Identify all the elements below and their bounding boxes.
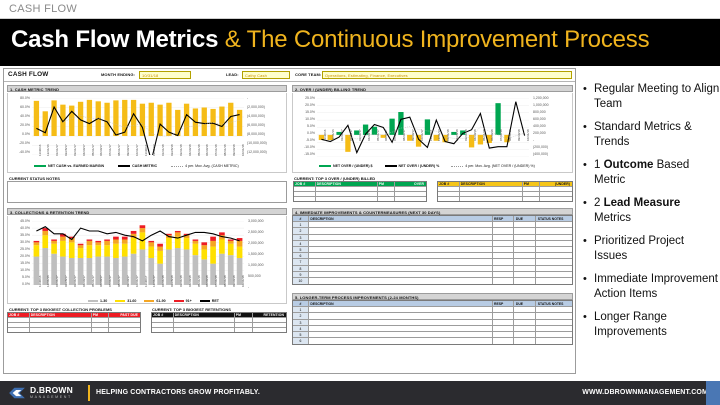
col-over: OVER xyxy=(395,182,426,186)
chart3-ytick: 25.0% xyxy=(8,247,30,251)
x-tick-label: 06/30/17 xyxy=(384,129,388,141)
row-cell[interactable] xyxy=(309,259,493,264)
row-cell[interactable] xyxy=(536,272,572,277)
row-number: 5 xyxy=(293,247,309,252)
x-tick-label: 09/30/18 xyxy=(232,275,236,287)
row-cell[interactable] xyxy=(514,266,536,271)
legend-label: 31-60 xyxy=(127,299,136,303)
chart2-ytick: -5.0% xyxy=(293,138,315,142)
row-cell[interactable] xyxy=(514,222,536,227)
x-tick-label: 06/30/18 xyxy=(490,129,494,141)
chart1-y2tick: (8,000,000) xyxy=(247,132,265,136)
chart-cash-metric-trend: 80.0% 60.0% 40.0% 20.0% 0.0% -20.0% -40.… xyxy=(7,93,287,173)
row-cell[interactable] xyxy=(514,278,536,284)
row-cell[interactable] xyxy=(514,307,536,312)
chart3-ytick: 5.0% xyxy=(8,275,30,279)
row-number: 1 xyxy=(293,222,309,227)
x-tick-label: 03/31/17 xyxy=(358,129,362,141)
column-header: DUE xyxy=(514,301,536,306)
bullet-item: •Standard Metrics & Trends xyxy=(583,120,720,149)
page-title-accent: & The Continuous Improvement Process xyxy=(225,26,650,53)
x-tick-label: 08/31/17 xyxy=(117,144,121,156)
breadcrumb: CASH FLOW xyxy=(9,3,77,15)
chart3-ytick: 10.0% xyxy=(8,268,30,272)
col-job: JOB # xyxy=(152,313,174,317)
legend-swatch-91plus xyxy=(174,300,184,303)
column-header: STATUS NOTES xyxy=(536,301,572,306)
col-pm: PM xyxy=(235,313,253,317)
legend-swatch-1-30 xyxy=(88,300,98,303)
footer-divider xyxy=(88,385,90,401)
row-cell[interactable] xyxy=(536,247,572,252)
row-cell[interactable] xyxy=(493,235,515,240)
chart3-y2tick: 3,000,000 xyxy=(248,219,264,223)
table-over-billed[interactable]: JOB # DESCRIPTION PM OVER xyxy=(293,181,427,202)
chart3-ytick: 40.0% xyxy=(8,226,30,230)
core-team-field[interactable]: Operations, Estimating, Finance, Executi… xyxy=(322,71,572,79)
chart1-ytick: 80.0% xyxy=(8,96,30,100)
row-cell[interactable] xyxy=(309,228,493,233)
legend-label: 4 per. Mov. Avg. (CASH METRIC) xyxy=(185,164,239,168)
row-cell[interactable] xyxy=(514,313,536,318)
x-tick-label: 02/28/18 xyxy=(455,129,459,141)
lead-label: LEAD: xyxy=(226,72,239,77)
row-cell[interactable] xyxy=(536,278,572,284)
row-number: 5 xyxy=(293,332,309,337)
x-tick-label: 01/31/18 xyxy=(161,144,165,156)
row-cell[interactable] xyxy=(536,253,572,258)
section-3-label: 3. COLLECTIONS & RETENTION TREND xyxy=(10,210,89,215)
x-tick-label: 08/31/18 xyxy=(223,144,227,156)
row-cell[interactable] xyxy=(493,313,515,318)
row-number: 6 xyxy=(293,253,309,258)
column-header: # xyxy=(293,216,309,221)
chart1-ytick: -20.0% xyxy=(8,141,30,145)
x-tick-label: 03/31/17 xyxy=(73,144,77,156)
row-cell[interactable] xyxy=(493,272,515,277)
row-cell[interactable] xyxy=(514,259,536,264)
status-notes-box[interactable] xyxy=(7,181,287,203)
table-row[interactable]: 10 xyxy=(293,278,572,284)
x-tick-label: 12/31/17 xyxy=(437,129,441,141)
column-header: DESCRIPTION xyxy=(309,216,493,221)
col-pm: PM xyxy=(523,182,541,186)
bullet-text: Immediate Improvement Action Items xyxy=(594,272,720,301)
month-ending-field[interactable]: 10/31/18 xyxy=(139,71,191,79)
footer-accent-block xyxy=(706,381,720,405)
bullet-item: •Regular Meeting to Align Team xyxy=(583,82,720,111)
bullet-dot-icon: • xyxy=(583,120,594,149)
col-pm: PM xyxy=(92,313,110,317)
row-cell[interactable] xyxy=(514,235,536,240)
column-header: # xyxy=(293,301,309,306)
x-tick-label: 01/31/18 xyxy=(161,275,165,287)
x-tick-label: 06/30/17 xyxy=(99,144,103,156)
x-tick-label: 04/30/17 xyxy=(82,275,86,287)
x-tick-label: 11/30/16 xyxy=(38,145,42,156)
row-cell[interactable] xyxy=(309,278,493,284)
section-1-label: 1. CASH METRIC TREND xyxy=(10,87,59,92)
col-job: JOB # xyxy=(294,182,316,186)
col-job: JOB # xyxy=(8,313,30,317)
row-cell[interactable] xyxy=(493,259,515,264)
row-cell[interactable] xyxy=(536,241,572,246)
row-cell[interactable] xyxy=(493,266,515,271)
bullet-text: Standard Metrics & Trends xyxy=(594,120,720,149)
core-team-label: CORE TEAM: xyxy=(295,72,321,77)
row-cell[interactable] xyxy=(309,235,493,240)
row-cell[interactable] xyxy=(536,266,572,271)
footer-url[interactable]: WWW.DBROWNMANAGEMENT.COM xyxy=(582,389,708,396)
row-cell[interactable] xyxy=(514,272,536,277)
legend-label: RET xyxy=(212,299,219,303)
legend-swatch-mov-avg xyxy=(451,166,463,167)
row-number: 3 xyxy=(293,235,309,240)
slide: CASH FLOW Cash Flow Metrics & The Contin… xyxy=(0,0,720,405)
x-tick-label: 05/31/18 xyxy=(197,275,201,287)
row-cell[interactable] xyxy=(536,332,572,337)
col-retention: RETENTION xyxy=(253,313,287,317)
breadcrumb-bar: CASH FLOW xyxy=(0,0,720,19)
chart1-y2tick: (12,000,000) xyxy=(247,150,267,154)
chart1-legend: NET CASH vs. EARNED MARGIN CASH METRIC 4… xyxy=(34,164,239,168)
row-cell[interactable] xyxy=(493,222,515,227)
chart2-ytick: -10.0% xyxy=(293,145,315,149)
x-tick-label: 01/31/18 xyxy=(446,129,450,141)
chart2-y2tick: (400,000) xyxy=(533,152,548,156)
chart2-ytick: 20.0% xyxy=(293,103,315,107)
dbrown-logo-icon xyxy=(8,386,26,400)
x-tick-label: 04/30/17 xyxy=(367,129,371,141)
row-cell[interactable] xyxy=(309,272,493,277)
row-cell[interactable] xyxy=(493,278,515,284)
legend-label: 61-90 xyxy=(156,299,165,303)
bullet-dot-icon: • xyxy=(583,196,594,225)
row-cell[interactable] xyxy=(536,313,572,318)
bullet-item: •Longer Range Improvements xyxy=(583,310,720,339)
chart2-ytick: 25.0% xyxy=(293,96,315,100)
row-number: 8 xyxy=(293,266,309,271)
row-number: 10 xyxy=(293,278,309,284)
row-cell[interactable] xyxy=(536,222,572,227)
chart3-ytick: 0.0% xyxy=(8,282,30,286)
bullet-text: 2 Lead Measure Metrics xyxy=(594,196,720,225)
row-cell[interactable] xyxy=(493,320,515,325)
row-cell[interactable] xyxy=(309,313,493,318)
legend-label: NET CASH vs. EARNED MARGIN xyxy=(48,164,104,168)
chart2-y2tick: - xyxy=(533,138,534,142)
x-tick-label: 03/31/18 xyxy=(179,144,183,156)
chart1-ytick: 40.0% xyxy=(8,114,30,118)
chart2-y2tick: 1,200,000 xyxy=(533,96,549,100)
legend-swatch-31-60 xyxy=(115,300,125,303)
row-number: 2 xyxy=(293,228,309,233)
col-under: (UNDER) xyxy=(540,182,572,186)
bullet-dot-icon: • xyxy=(583,272,594,301)
chart3-y2tick: 500,000 xyxy=(248,274,261,278)
x-tick-label: 08/31/17 xyxy=(402,129,406,141)
row-cell[interactable] xyxy=(514,253,536,258)
x-tick-label: 02/28/17 xyxy=(64,275,68,287)
bullet-text: 1 Outcome Based Metric xyxy=(594,158,720,187)
legend-swatch-net-over-pct xyxy=(385,165,397,168)
row-cell[interactable] xyxy=(536,338,572,344)
chart1-x-axis: 11/30/1612/31/1601/31/1702/28/1703/31/17… xyxy=(32,155,244,171)
section-2-header: 2. OVER / (UNDER) BILLING TREND xyxy=(292,85,573,92)
chart1-y2tick: (2,000,000) xyxy=(247,105,265,109)
x-tick-label: 07/31/18 xyxy=(214,275,218,287)
col-description: DESCRIPTION xyxy=(316,182,378,186)
x-tick-label: 02/28/18 xyxy=(170,144,174,156)
x-tick-label: 04/30/18 xyxy=(188,275,192,287)
column-header: DUE xyxy=(514,216,536,221)
row-cell[interactable] xyxy=(514,320,536,325)
page-title: Cash Flow Metrics & The Continuous Impro… xyxy=(11,26,649,54)
bullet-dot-icon: • xyxy=(583,82,594,111)
row-cell[interactable] xyxy=(309,241,493,246)
col-description: DESCRIPTION xyxy=(460,182,523,186)
footer-tagline: HELPING CONTRACTORS GROW PROFITABLY. xyxy=(96,389,260,396)
row-cell[interactable] xyxy=(309,320,493,325)
row-cell[interactable] xyxy=(493,247,515,252)
x-tick-label: 09/30/18 xyxy=(517,129,521,141)
row-cell[interactable] xyxy=(309,266,493,271)
row-cell[interactable] xyxy=(309,247,493,252)
table-retentions[interactable]: JOB # DESCRIPTION PM RETENTION xyxy=(151,312,287,333)
chart2-y2tick: (200,000) xyxy=(533,145,548,149)
row-cell[interactable] xyxy=(309,222,493,227)
x-tick-label: 03/31/18 xyxy=(464,129,468,141)
x-tick-label: 01/31/17 xyxy=(55,144,59,156)
x-tick-label: 06/30/18 xyxy=(205,275,209,287)
chart3-y2tick: 1,000,000 xyxy=(248,263,264,267)
chart2-x-axis: 11/30/1612/31/1601/31/1702/28/1703/31/17… xyxy=(317,140,529,156)
legend-label: NET OVER / (UNDER) % xyxy=(399,164,440,168)
row-cell[interactable] xyxy=(309,307,493,312)
x-tick-label: 09/30/17 xyxy=(411,129,415,141)
x-tick-label: 11/30/17 xyxy=(429,130,433,141)
bullet-dot-icon: • xyxy=(583,234,594,263)
bullet-dot-icon: • xyxy=(583,310,594,339)
row-cell[interactable] xyxy=(536,326,572,331)
row-cell[interactable] xyxy=(536,307,572,312)
row-number: 1 xyxy=(293,307,309,312)
row-cell[interactable] xyxy=(514,228,536,233)
chart2-y2tick: 200,000 xyxy=(533,131,546,135)
x-tick-label: 01/31/17 xyxy=(340,129,344,141)
x-tick-label: 05/31/18 xyxy=(482,129,486,141)
page-title-main: Cash Flow Metrics xyxy=(11,26,218,53)
chart2-ytick: 15.0% xyxy=(293,110,315,114)
x-tick-label: 08/31/18 xyxy=(223,275,227,287)
row-cell[interactable] xyxy=(493,228,515,233)
x-tick-label: 10/31/18 xyxy=(241,144,245,156)
legend-swatch-cash-metric xyxy=(118,165,130,168)
chart1-ytick: 60.0% xyxy=(8,105,30,109)
x-tick-label: 11/30/16 xyxy=(38,276,42,287)
x-tick-label: 04/30/18 xyxy=(188,144,192,156)
bullet-text: Prioritized Project Issues xyxy=(594,234,720,263)
x-tick-label: 02/28/17 xyxy=(64,144,68,156)
chart2-ytick: 10.0% xyxy=(293,117,315,121)
x-tick-label: 05/31/17 xyxy=(91,144,95,156)
x-tick-label: 12/31/17 xyxy=(152,144,156,156)
chart3-y2tick: 2,500,000 xyxy=(248,230,264,234)
row-cell[interactable] xyxy=(493,338,515,344)
row-cell[interactable] xyxy=(309,338,493,344)
footer-brand: D.BROWN MANAGEMENT xyxy=(30,386,73,400)
row-number: 2 xyxy=(293,313,309,318)
chart3-ytick: 15.0% xyxy=(8,261,30,265)
chart-collections-retention-trend: 45.0% 40.0% 35.0% 30.0% 25.0% 20.0% 15.0… xyxy=(7,216,287,304)
table-immediate-improvements[interactable]: #DESCRIPTIONRESPDUESTATUS NOTES123456789… xyxy=(292,215,573,285)
table-longterm-improvements[interactable]: #DESCRIPTIONRESPDUESTATUS NOTES123456 xyxy=(292,300,573,345)
legend-label: NET OVER / (UNDER) $ xyxy=(333,164,373,168)
section-4-header: 4. IMMEDIATE IMPROVEMENTS & COUNTERMEASU… xyxy=(292,208,573,215)
x-tick-label: 12/31/16 xyxy=(46,275,50,287)
chart1-y2tick: (6,000,000) xyxy=(247,123,265,127)
table-row[interactable] xyxy=(438,197,572,202)
row-cell[interactable] xyxy=(309,332,493,337)
row-cell[interactable] xyxy=(493,307,515,312)
cash-flow-worksheet: CASH FLOW MONTH ENDING: 10/31/18 LEAD: C… xyxy=(3,68,576,374)
chart3-y2tick: 2,000,000 xyxy=(248,241,264,245)
chart1-y2tick: (4,000,000) xyxy=(247,114,265,118)
x-tick-label: 10/31/17 xyxy=(135,144,139,156)
chart3-ytick: 45.0% xyxy=(8,219,30,223)
chart3-ytick: 20.0% xyxy=(8,254,30,258)
row-number: 4 xyxy=(293,241,309,246)
row-cell[interactable] xyxy=(514,332,536,337)
bullet-item: •Immediate Improvement Action Items xyxy=(583,272,720,301)
x-tick-label: 08/31/18 xyxy=(508,129,512,141)
x-tick-label: 07/31/17 xyxy=(108,275,112,287)
row-number: 7 xyxy=(293,259,309,264)
chart2-ytick: 5.0% xyxy=(293,124,315,128)
x-tick-label: 10/31/17 xyxy=(135,275,139,287)
row-cell[interactable] xyxy=(514,247,536,252)
x-tick-label: 12/31/16 xyxy=(331,129,335,141)
chart2-ytick: 0.0% xyxy=(293,131,315,135)
table-row[interactable] xyxy=(8,328,140,333)
lead-field[interactable]: Cathy Cash xyxy=(242,71,290,79)
x-tick-label: 11/30/16 xyxy=(323,130,327,141)
bullet-text: Longer Range Improvements xyxy=(594,310,720,339)
x-tick-label: 07/31/18 xyxy=(499,129,503,141)
column-header: RESP xyxy=(493,216,515,221)
table-collection-problems[interactable]: JOB # DESCRIPTION PM PAST DUE xyxy=(7,312,141,333)
bullet-item: •1 Outcome Based Metric xyxy=(583,158,720,187)
chart2-y2tick: 600,000 xyxy=(533,117,546,121)
section-5-header: 5. LONGER-TERM PROCESS IMPROVEMENTS (2-2… xyxy=(292,293,573,300)
row-cell[interactable] xyxy=(493,332,515,337)
x-tick-label: 07/31/18 xyxy=(214,144,218,156)
row-cell[interactable] xyxy=(536,259,572,264)
table-row[interactable] xyxy=(152,328,286,333)
row-cell[interactable] xyxy=(309,326,493,331)
x-tick-label: 06/30/17 xyxy=(99,275,103,287)
legend-label: CASH METRIC xyxy=(132,164,157,168)
chart1-ytick: 0.0% xyxy=(8,132,30,136)
chart3-legend: 1-30 31-60 61-90 91+ RET xyxy=(88,299,219,303)
table-row[interactable]: 6 xyxy=(293,338,572,344)
row-number: 3 xyxy=(293,320,309,325)
row-cell[interactable] xyxy=(493,241,515,246)
chart1-ytick: -40.0% xyxy=(8,150,30,154)
row-cell[interactable] xyxy=(514,326,536,331)
col-description: DESCRIPTION xyxy=(30,313,92,317)
chart2-ytick: -15.0% xyxy=(293,152,315,156)
chart3-ytick: 35.0% xyxy=(8,233,30,237)
chart2-y2tick: 1,000,000 xyxy=(533,103,549,107)
bullet-item: •Prioritized Project Issues xyxy=(583,234,720,263)
row-cell[interactable] xyxy=(493,326,515,331)
section-3-header: 3. COLLECTIONS & RETENTION TREND xyxy=(7,208,287,215)
column-header: RESP xyxy=(493,301,515,306)
row-cell[interactable] xyxy=(536,235,572,240)
x-tick-label: 07/31/17 xyxy=(393,129,397,141)
row-cell[interactable] xyxy=(514,241,536,246)
x-tick-label: 09/30/17 xyxy=(126,144,130,156)
section-1-header: 1. CASH METRIC TREND xyxy=(7,85,287,92)
chart2-legend: NET OVER / (UNDER) $ NET OVER / (UNDER) … xyxy=(319,164,535,168)
row-number: 4 xyxy=(293,326,309,331)
footer-brand-sub: MANAGEMENT xyxy=(30,395,73,400)
x-tick-label: 09/30/17 xyxy=(126,275,130,287)
row-cell[interactable] xyxy=(493,253,515,258)
chart1-y2tick: (10,000,000) xyxy=(247,141,267,145)
row-cell[interactable] xyxy=(536,320,572,325)
bullet-item: •2 Lead Measure Metrics xyxy=(583,196,720,225)
x-tick-label: 05/31/17 xyxy=(376,129,380,141)
chart2-y2tick: 800,000 xyxy=(533,110,546,114)
row-cell[interactable] xyxy=(309,253,493,258)
chart2-y2tick: 400,000 xyxy=(533,124,546,128)
chart1-ytick: 20.0% xyxy=(8,123,30,127)
legend-label: 4 per. Mov. Avg. (NET OVER / (UNDER) %) xyxy=(465,164,535,168)
row-cell[interactable] xyxy=(536,228,572,233)
legend-label: 1-30 xyxy=(100,299,107,303)
chart3-y2tick: - xyxy=(248,285,249,289)
month-ending-label: MONTH ENDING: xyxy=(101,72,135,77)
legend-swatch-ret xyxy=(200,300,210,303)
x-tick-label: 02/28/17 xyxy=(349,129,353,141)
row-number: 6 xyxy=(293,338,309,344)
row-number: 9 xyxy=(293,272,309,277)
chart3-ytick: 30.0% xyxy=(8,240,30,244)
x-tick-label: 10/31/18 xyxy=(526,129,530,141)
worksheet-title: CASH FLOW xyxy=(8,71,49,78)
col-job: JOB # xyxy=(438,182,460,186)
table-row[interactable] xyxy=(294,197,426,202)
col-pm: PM xyxy=(378,182,396,186)
legend-swatch-net-cash xyxy=(34,165,46,168)
bullet-list: •Regular Meeting to Align Team•Standard … xyxy=(583,82,720,348)
footer-brand-main: D.BROWN xyxy=(30,386,73,395)
table-under-billed[interactable]: JOB # DESCRIPTION PM (UNDER) xyxy=(437,181,573,202)
x-tick-label: 11/30/17 xyxy=(144,145,148,156)
legend-swatch-mov-avg xyxy=(171,166,183,167)
x-tick-label: 01/31/17 xyxy=(55,275,59,287)
chart-over-under-billing-trend: 25.0% 20.0% 15.0% 10.0% 5.0% 0.0% -5.0% … xyxy=(292,93,573,173)
x-tick-label: 06/30/18 xyxy=(205,144,209,156)
x-tick-label: 03/31/18 xyxy=(179,275,183,287)
row-cell[interactable] xyxy=(514,338,536,344)
chart1-y2tick: - xyxy=(247,96,248,100)
bullet-dot-icon: • xyxy=(583,158,594,187)
section-2-label: 2. OVER / (UNDER) BILLING TREND xyxy=(295,87,366,92)
legend-swatch-61-90 xyxy=(144,300,154,303)
